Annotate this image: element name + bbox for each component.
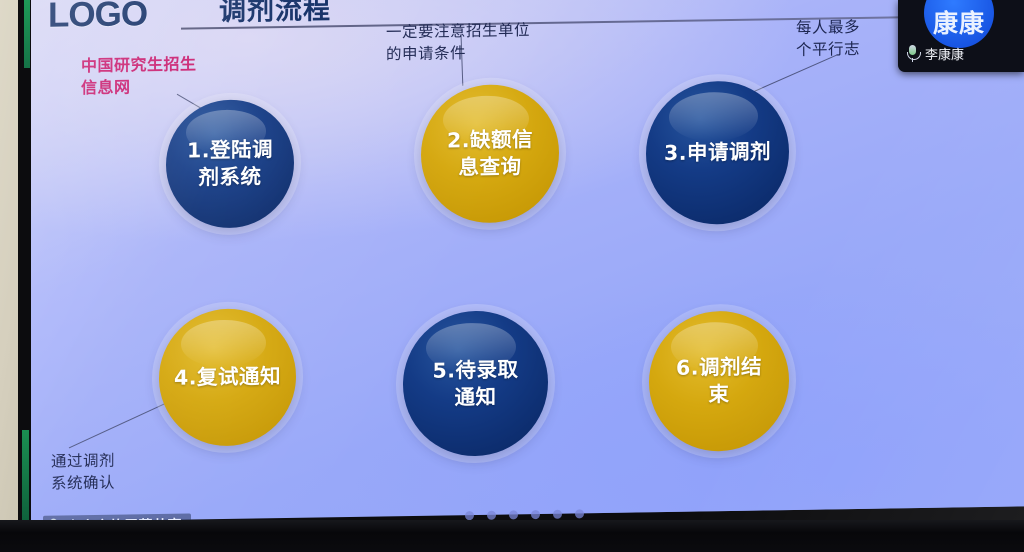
step-circle-3[interactable]: 3.申请调剂 xyxy=(646,80,789,225)
step-circle-1-label: 1.登陆调剂系统 xyxy=(179,136,281,192)
step-circle-6-label: 6.调剂结束 xyxy=(668,353,770,409)
pagination-dot[interactable] xyxy=(487,511,496,520)
step-circle-1[interactable]: 1.登陆调剂系统 xyxy=(166,99,294,229)
slide-logo: LOGO xyxy=(48,0,147,36)
annotation-4: 通过调剂系统确认 xyxy=(51,451,115,496)
green-edge-strip-top xyxy=(24,0,30,68)
step-circle-2-label: 2.缺额信息查询 xyxy=(439,126,541,182)
step-circle-4[interactable]: 4.复试通知 xyxy=(159,308,296,447)
annotation-2: 一定要注意招生单位的申请条件 xyxy=(386,20,530,66)
slide-content: LOGO 调剂流程 中国研究生招生信息网 一定要注意招生单位的申请条件 每人最多… xyxy=(31,0,1024,522)
avatar-initials: 康康 xyxy=(933,4,985,40)
green-edge-strip-bottom xyxy=(22,430,29,522)
annotation-1: 中国研究生招生信息网 xyxy=(81,53,197,99)
step-circle-3-label: 3.申请调剂 xyxy=(656,138,779,167)
pagination-dot[interactable] xyxy=(575,509,584,518)
tv-bezel-bottom xyxy=(0,520,1024,552)
annotation-3: 每人最多个平行志 xyxy=(796,17,860,62)
video-overlay-tile[interactable]: 康康 李康康 xyxy=(898,0,1024,72)
pagination-dot[interactable] xyxy=(553,510,562,519)
screen-photo: LOGO 调剂流程 中国研究生招生信息网 一定要注意招生单位的申请条件 每人最多… xyxy=(0,0,1024,552)
pagination-dot[interactable] xyxy=(509,510,518,519)
video-overlay-namebar: 李康康 xyxy=(898,40,972,66)
pagination-dots[interactable] xyxy=(465,509,584,520)
step-circle-4-label: 4.复试通知 xyxy=(166,363,289,392)
step-circle-6[interactable]: 6.调剂结束 xyxy=(649,310,789,452)
page-title: 调剂流程 xyxy=(219,0,331,28)
step-circle-5-label: 5.待录取通知 xyxy=(424,356,526,412)
pagination-dot[interactable] xyxy=(531,510,540,519)
step-circle-2[interactable]: 2.缺额信息查询 xyxy=(421,84,559,224)
step-circle-5[interactable]: 5.待录取通知 xyxy=(403,310,548,457)
participant-name: 李康康 xyxy=(925,44,964,63)
microphone-icon xyxy=(906,45,919,62)
pagination-dot[interactable] xyxy=(465,511,474,520)
leader-line-4 xyxy=(69,398,177,449)
